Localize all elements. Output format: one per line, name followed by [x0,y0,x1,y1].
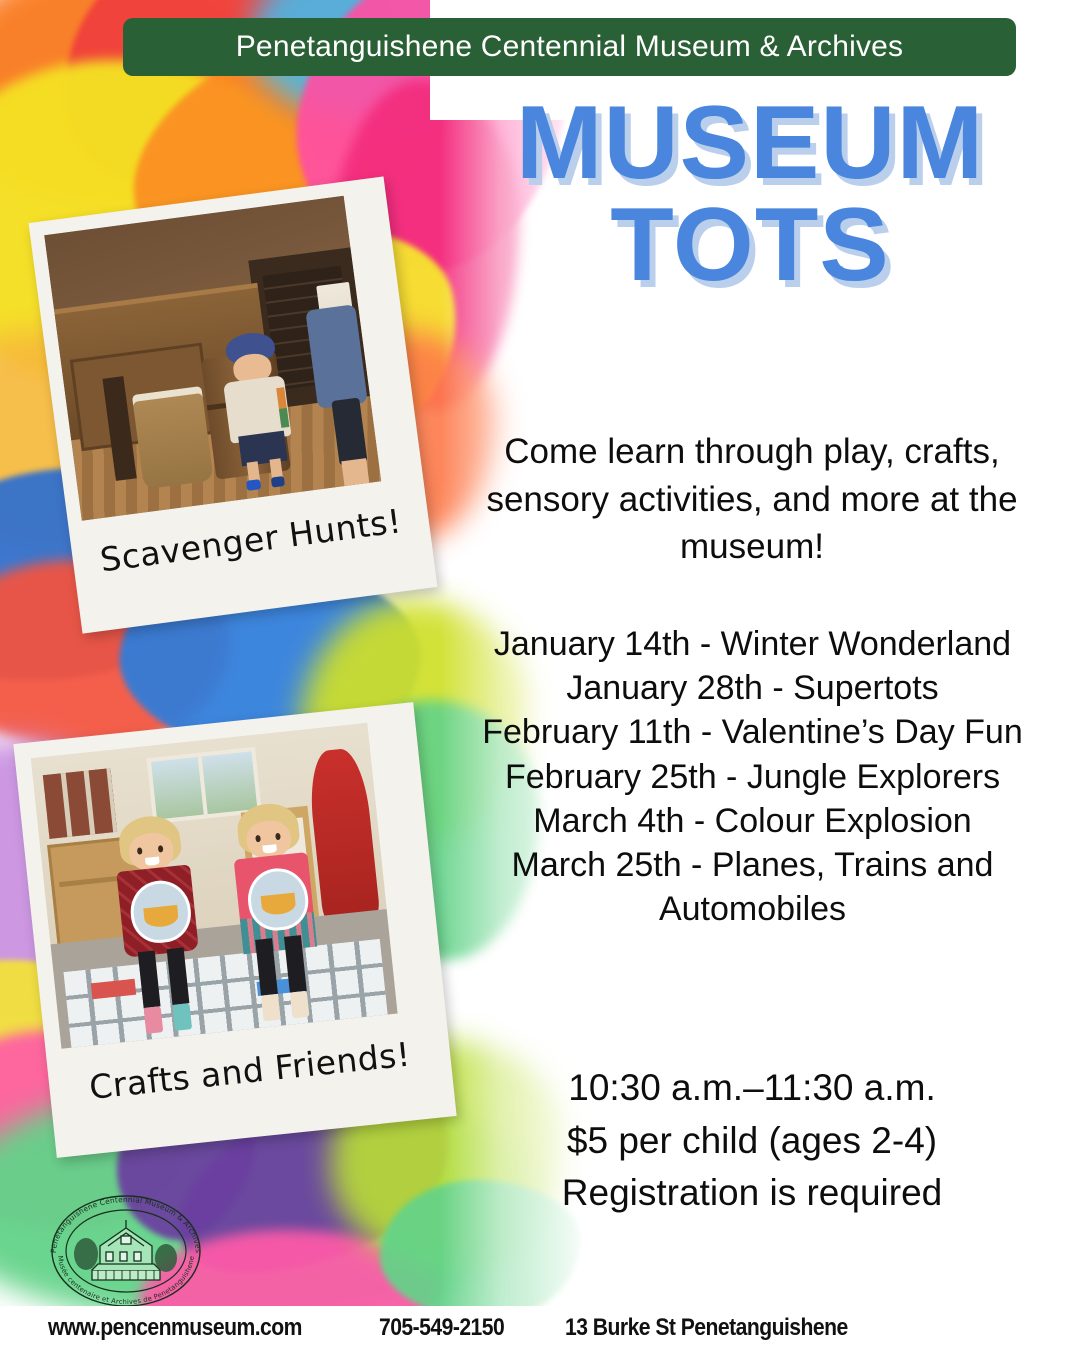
page-title: MUSEUM TOTS [440,96,1060,293]
photo-crafts-and-friends [31,723,398,1049]
photo-scavenger-hunts [44,196,381,521]
title-line-2: TOTS [440,198,1060,294]
details-block: 10:30 a.m.–11:30 a.m. $5 per child (ages… [452,1062,1052,1220]
footer-address: 13 Burke St Penetanguishene [565,1314,848,1342]
schedule-item: January 14th - Winter Wonderland [440,622,1065,666]
polaroid-photo-card: Crafts and Friends! [13,702,456,1158]
schedule-item: February 25th - Jungle Explorers [440,755,1065,799]
museum-logo: Penetanguishene Centennial Museum & Arch… [42,1192,210,1310]
footer-phone[interactable]: 705-549-2150 [379,1314,504,1342]
schedule-item: March 4th - Colour Explosion [440,799,1065,843]
intro-paragraph: Come learn through play, crafts, sensory… [452,428,1052,571]
photo-illustration [31,723,398,1049]
detail-time: 10:30 a.m.–11:30 a.m. [452,1062,1052,1115]
footer-website[interactable]: www.pencenmuseum.com [48,1314,302,1342]
footer-contact-bar: www.pencenmuseum.com 705-549-2150 13 Bur… [0,1306,1080,1350]
schedule-item: January 28th - Supertots [440,666,1065,710]
header-banner-text: Penetanguishene Centennial Museum & Arch… [236,30,904,64]
photo-caption: Crafts and Friends! [64,1032,436,1109]
header-banner: Penetanguishene Centennial Museum & Arch… [123,18,1016,76]
polaroid-photo-card: Scavenger Hunts! [29,176,438,633]
schedule-list: January 14th - Winter Wonderland January… [440,622,1065,931]
detail-price: $5 per child (ages 2-4) [452,1115,1052,1168]
poster-root: Penetanguishene Centennial Museum & Arch… [0,0,1080,1350]
schedule-item: February 11th - Valentine’s Day Fun [440,710,1065,754]
title-line-1: MUSEUM [440,96,1060,192]
photo-illustration [44,196,381,521]
detail-registration: Registration is required [452,1167,1052,1220]
schedule-item: March 25th - Planes, Trains and Automobi… [440,843,1065,931]
